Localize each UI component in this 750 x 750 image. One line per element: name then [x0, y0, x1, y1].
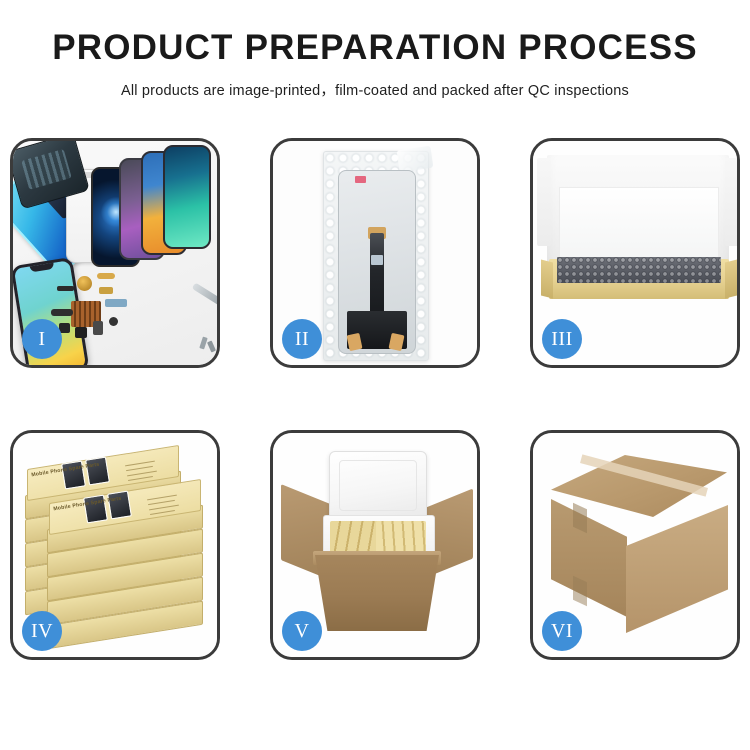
step-badge-2: II	[282, 319, 322, 359]
process-step-panel-4: Mobile Phone Spare Parts Mobile Phone Sp…	[10, 430, 220, 660]
process-step-panel-3: III	[530, 138, 740, 368]
process-step-panel-6: VI	[530, 430, 740, 660]
driver-chip-image	[371, 255, 383, 265]
phone-display-teal-image	[163, 145, 211, 249]
small-component-icon	[109, 317, 118, 326]
page-subtitle: All products are image-printed，film-coat…	[0, 79, 750, 100]
flex-cable-part-icon	[51, 309, 73, 316]
carton-left-face-image	[551, 499, 627, 617]
flex-cable-part-icon	[97, 273, 115, 279]
process-steps-grid: I II I	[0, 138, 750, 660]
bubble-wrap-bag-image	[323, 151, 429, 361]
foam-lid-image	[329, 451, 427, 521]
small-component-icon	[93, 321, 103, 335]
bag-fold-detail	[397, 146, 434, 173]
packed-product-image	[557, 257, 721, 283]
step-badge-3: III	[542, 319, 582, 359]
speaker-part-icon	[77, 276, 92, 291]
carton-body-image	[315, 555, 439, 631]
flex-cable-part-icon	[99, 287, 113, 294]
process-step-panel-5: V	[270, 430, 480, 660]
screw-icon	[207, 340, 216, 352]
step-badge-1: I	[22, 319, 62, 359]
page-title: PRODUCT PREPARATION PROCESS	[0, 30, 750, 67]
process-step-panel-2: II	[270, 138, 480, 368]
lcd-screen-image	[338, 170, 416, 354]
foam-sheet-image	[559, 187, 719, 261]
process-step-panel-1: I	[10, 138, 220, 368]
qc-sticker-icon	[355, 176, 366, 183]
step-badge-4: IV	[22, 611, 62, 651]
carton-right-face-image	[626, 505, 728, 633]
step-badge-5: V	[282, 611, 322, 651]
step-badge-6: VI	[542, 611, 582, 651]
page-header: PRODUCT PREPARATION PROCESS All products…	[0, 0, 750, 100]
small-component-icon	[75, 327, 87, 338]
tweezers-icon	[192, 283, 217, 307]
connector-part-icon	[105, 299, 127, 307]
tape-seam-lower-image	[573, 576, 587, 607]
earpiece-part-icon	[57, 286, 74, 291]
